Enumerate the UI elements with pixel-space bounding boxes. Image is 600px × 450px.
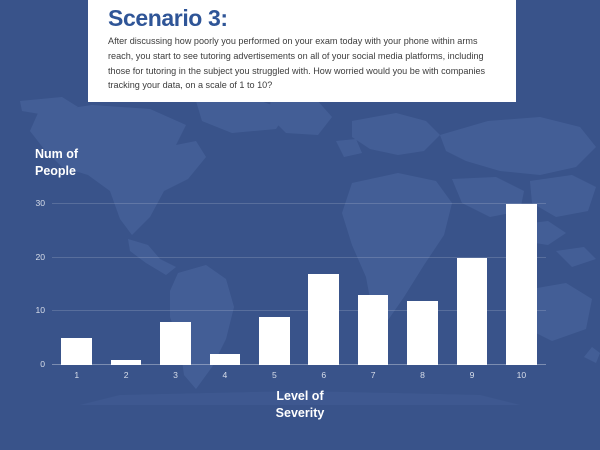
bar-slot: 6 (299, 193, 348, 365)
bar (506, 204, 537, 365)
x-axis-tick-label: 10 (517, 370, 527, 380)
x-axis-title: Level of Severity (0, 388, 600, 422)
x-axis-tick-label: 1 (74, 370, 79, 380)
y-axis-tick-label: 20 (35, 252, 45, 262)
x-axis-tick-label: 9 (470, 370, 475, 380)
bar (457, 258, 488, 366)
x-axis-tick-label: 5 (272, 370, 277, 380)
bar (407, 301, 438, 366)
bar-slot: 3 (151, 193, 200, 365)
y-axis-title: Num of People (35, 146, 78, 180)
x-axis-tick-label: 6 (321, 370, 326, 380)
scenario-card: Scenario 3: After discussing how poorly … (88, 0, 516, 102)
y-axis-tick-label: 10 (35, 305, 45, 315)
plot-area: 0102030 12345678910 (52, 193, 546, 365)
bar (160, 322, 191, 365)
bar-slot: 1 (52, 193, 101, 365)
bar-slot: 4 (200, 193, 249, 365)
bar-series: 12345678910 (52, 193, 546, 365)
bar (61, 338, 92, 365)
bar (210, 354, 241, 365)
bar-slot: 10 (497, 193, 546, 365)
bar-slot: 5 (250, 193, 299, 365)
bar-slot: 9 (447, 193, 496, 365)
x-axis-tick-label: 8 (420, 370, 425, 380)
bar-slot: 8 (398, 193, 447, 365)
bar-slot: 2 (101, 193, 150, 365)
x-axis-tick-label: 7 (371, 370, 376, 380)
y-axis-tick-label: 0 (40, 359, 45, 369)
slide-canvas: Scenario 3: After discussing how poorly … (0, 0, 600, 450)
bar (308, 274, 339, 365)
scenario-description: After discussing how poorly you performe… (108, 34, 498, 93)
x-axis-tick-label: 3 (173, 370, 178, 380)
bar (111, 360, 142, 365)
bar (358, 295, 389, 365)
bar-chart: Num of People 0102030 12345678910 Level … (0, 120, 600, 450)
x-axis-tick-label: 4 (223, 370, 228, 380)
bar-slot: 7 (348, 193, 397, 365)
y-axis-tick-label: 30 (35, 198, 45, 208)
bar (259, 317, 290, 365)
x-axis-tick-label: 2 (124, 370, 129, 380)
scenario-title: Scenario 3: (108, 6, 502, 30)
